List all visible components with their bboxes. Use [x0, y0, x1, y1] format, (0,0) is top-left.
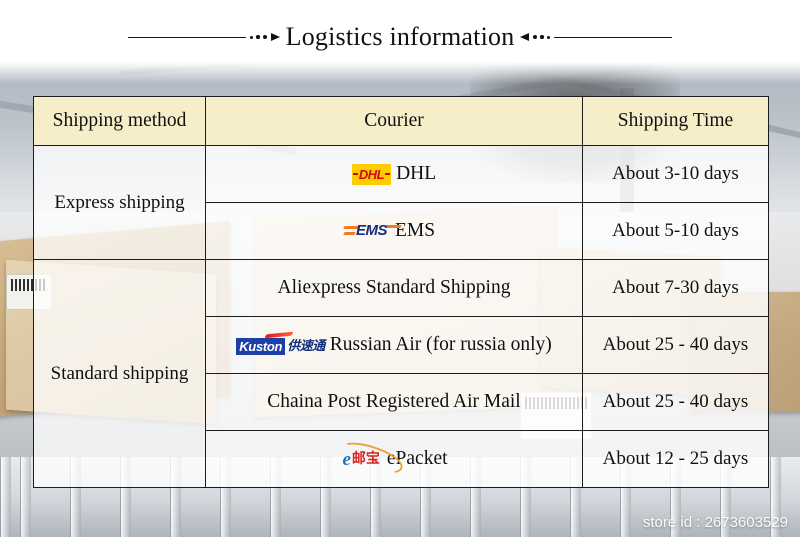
courier-name: DHL: [396, 163, 436, 185]
dot-icon: [533, 35, 537, 39]
decorative-dots: [533, 35, 550, 39]
courier-cell-dhl: DHL DHL: [206, 146, 583, 203]
courier-name: Aliexpress Standard Shipping: [278, 277, 511, 299]
decorative-dots: [250, 35, 267, 39]
table-row: Standard shipping Aliexpress Standard Sh…: [34, 260, 769, 317]
kuston-logo: Kuston 供速通: [236, 336, 325, 355]
column-header-courier: Courier: [206, 97, 583, 146]
column-header-shipping-time: Shipping Time: [583, 97, 769, 146]
shipping-time-value: About 5-10 days: [583, 203, 769, 260]
kuston-swoosh-icon: [265, 331, 294, 338]
courier-cell-ems: EMS EMS: [206, 203, 583, 260]
column-header-shipping-method: Shipping method: [34, 97, 206, 146]
arrow-left-icon: [520, 33, 529, 41]
courier-name: Russian Air (for russia only): [330, 334, 552, 356]
ems-chevron-icon: [385, 225, 401, 228]
dot-icon: [540, 35, 544, 39]
shipping-time-value: About 7-30 days: [583, 260, 769, 317]
courier-cell-epacket: e 邮宝 ePacket: [206, 431, 583, 488]
shipping-time-value: About 3-10 days: [583, 146, 769, 203]
background-top-fade: [0, 62, 800, 84]
courier-name: Chaina Post Registered Air Mail: [267, 391, 520, 413]
table-header-row: Shipping method Courier Shipping Time: [34, 97, 769, 146]
dot-icon: [547, 36, 550, 39]
decorative-rule: [554, 37, 672, 38]
epacket-logo: e 邮宝: [340, 450, 381, 469]
ems-logo: EMS: [353, 221, 390, 241]
courier-cell-china-post: Chaina Post Registered Air Mail: [206, 374, 583, 431]
logistics-table-wrapper: Shipping method Courier Shipping Time Ex…: [33, 96, 768, 488]
page-title: Logistics information: [280, 22, 521, 52]
table-row: Express shipping DHL DHL About 3-10 days: [34, 146, 769, 203]
logistics-table: Shipping method Courier Shipping Time Ex…: [33, 96, 769, 488]
dhl-logo-text: DHL: [359, 167, 384, 182]
dot-icon: [250, 36, 253, 39]
kuston-logo-chinese: 供速通: [287, 339, 325, 354]
ems-logo-text: EMS: [356, 222, 387, 240]
courier-name: EMS: [395, 220, 435, 242]
decorative-rule: [128, 37, 246, 38]
courier-cell-aliexpress: Aliexpress Standard Shipping: [206, 260, 583, 317]
dot-icon: [263, 35, 267, 39]
courier-cell-russian-air: Kuston 供速通 Russian Air (for russia only): [206, 317, 583, 374]
banner-title-bar: Logistics information: [0, 16, 800, 58]
shipping-time-value: About 12 - 25 days: [583, 431, 769, 488]
dhl-logo: DHL: [352, 164, 391, 185]
store-id-watermark: store id : 2673603529: [643, 514, 788, 531]
kuston-logo-text: Kuston: [236, 338, 285, 355]
shipping-method-express: Express shipping: [34, 146, 206, 260]
dot-icon: [256, 35, 260, 39]
epacket-arc-icon: [336, 436, 406, 479]
logistics-information-banner: Logistics information Shipping method Co…: [0, 0, 800, 537]
title-right-decoration: [520, 33, 672, 41]
ems-chevron-icon: [343, 232, 355, 235]
shipping-method-standard: Standard shipping: [34, 260, 206, 488]
shipping-time-value: About 25 - 40 days: [583, 374, 769, 431]
title-left-decoration: [128, 33, 280, 41]
shipping-time-value: About 25 - 40 days: [583, 317, 769, 374]
arrow-right-icon: [271, 33, 280, 41]
